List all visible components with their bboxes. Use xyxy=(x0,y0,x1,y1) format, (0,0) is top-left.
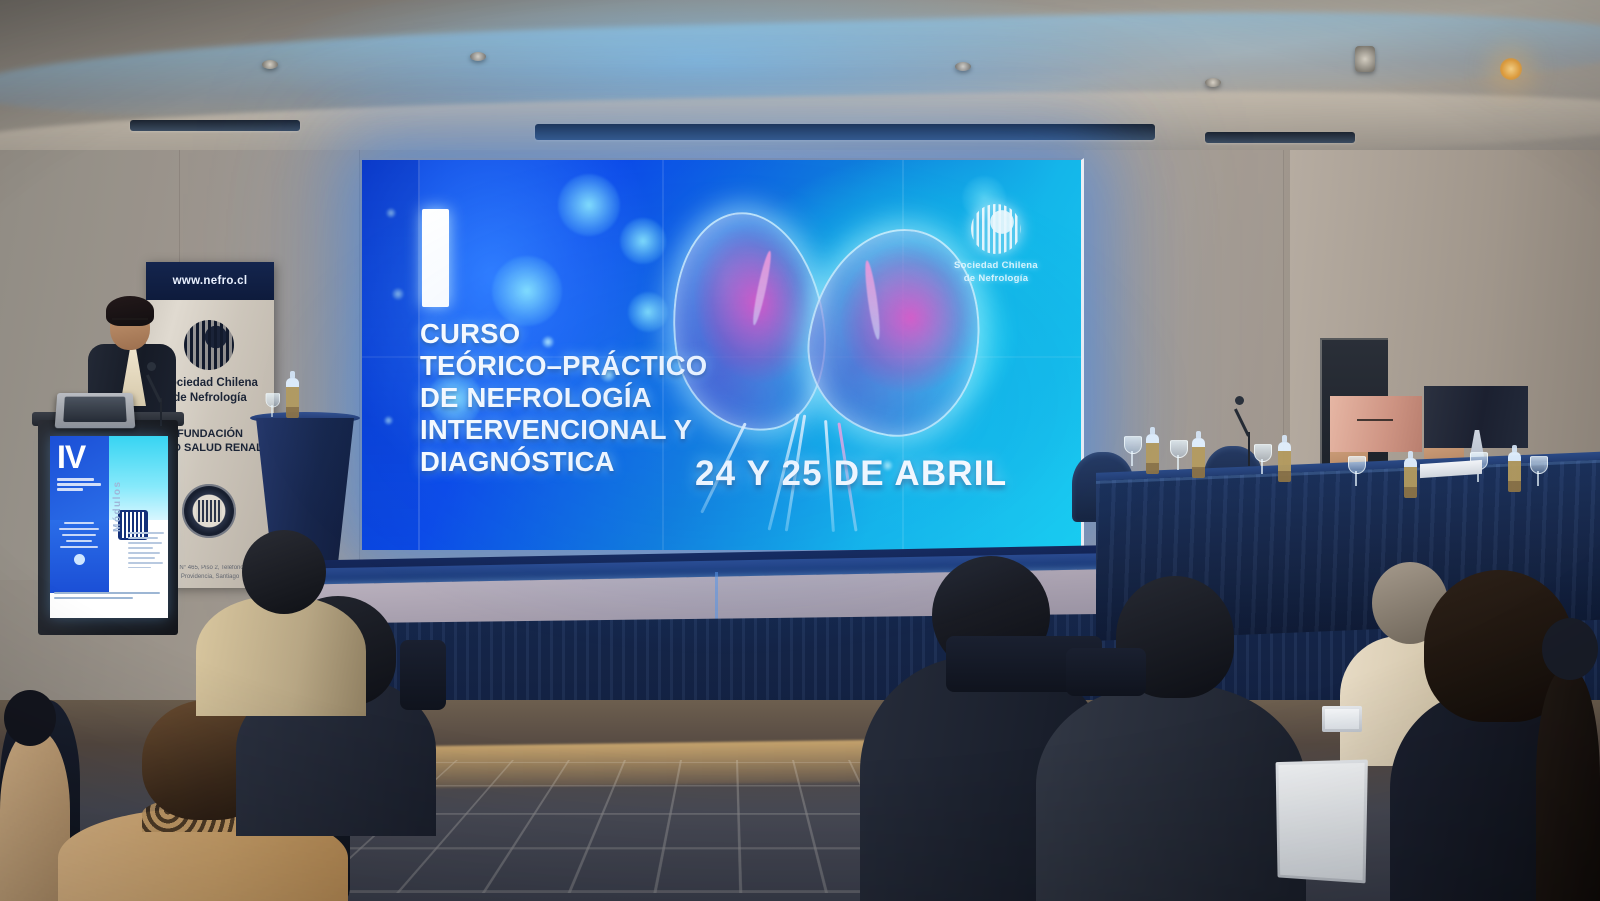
water-bottle-podium xyxy=(286,378,299,418)
banner-header: www.nefro.cl xyxy=(146,262,274,300)
audience-seat-3 xyxy=(400,640,446,710)
podium-microphone xyxy=(160,398,162,426)
slide-title-line-2: TEÓRICO–PRÁCTICO xyxy=(420,350,750,382)
panel-bottle-2 xyxy=(1192,438,1205,478)
ceiling-spotlight-3 xyxy=(955,62,971,71)
ceiling-vent-left xyxy=(130,120,300,131)
kidney-logo-icon xyxy=(971,204,1021,254)
poster-sponsor-footer xyxy=(54,592,164,614)
audience-seat-5 xyxy=(1066,648,1146,696)
slide-title-line-4: INTERVENCIONAL Y xyxy=(420,414,750,446)
speaker-laptop xyxy=(55,393,136,428)
poster-dot-icon xyxy=(74,554,85,565)
poster-modulos-label: Módulos xyxy=(112,480,123,532)
ceiling-spotlight-warm xyxy=(1500,58,1522,80)
audience-4-body xyxy=(196,596,366,716)
poster-middle-lines xyxy=(58,522,100,565)
panel-glass-3 xyxy=(1254,444,1270,474)
ceiling-vent-right xyxy=(1205,132,1355,143)
audience-notepad-page xyxy=(1325,709,1359,729)
ceiling-spotlight-2 xyxy=(470,52,486,61)
led-presentation-screen: CURSO TEÓRICO–PRÁCTICO DE NEFROLOGÍA INT… xyxy=(362,158,1084,550)
audience-notepad xyxy=(1322,706,1362,732)
audience-9-head xyxy=(1542,618,1598,680)
audience-6-body xyxy=(1036,684,1306,901)
slide-title-line-3: DE NEFROLOGÍA xyxy=(420,382,750,414)
audience-member-6 xyxy=(1036,576,1306,901)
panel-bottle-4 xyxy=(1404,458,1417,498)
podium-poster: IV Módulos xyxy=(50,436,168,618)
slide-logo-line-2: de Nefrología xyxy=(940,273,1052,286)
speaker-glasses xyxy=(112,318,148,326)
audience-9-body xyxy=(1536,668,1600,901)
led-panel-column-left xyxy=(362,160,420,550)
slide-logo: Sociedad Chilena de Nefrología xyxy=(940,204,1052,286)
ceiling-vent-center xyxy=(535,124,1155,140)
bokeh-1 xyxy=(558,174,620,236)
panel-glass-6 xyxy=(1530,456,1546,486)
slide-date: 24 Y 25 DE ABRIL xyxy=(695,454,1007,494)
conference-hall-scene: CURSO TEÓRICO–PRÁCTICO DE NEFROLOGÍA INT… xyxy=(0,0,1600,901)
slide-title-line-1: CURSO xyxy=(420,318,750,350)
slide-numeral-bar xyxy=(422,209,449,307)
audience-4-head xyxy=(242,530,326,614)
audience-member-9 xyxy=(1536,618,1600,901)
panel-bottle-5 xyxy=(1508,452,1521,492)
water-glass-podium xyxy=(266,393,279,417)
panel-glass-2 xyxy=(1170,440,1186,470)
audience-1-head xyxy=(4,690,56,746)
ceiling-spotlight-5 xyxy=(1355,46,1375,72)
bokeh-3 xyxy=(492,256,562,326)
panel-glass-4 xyxy=(1348,456,1364,486)
banner-kidney-logo-icon xyxy=(184,320,234,370)
poster-right-lines xyxy=(128,532,164,572)
speaker-laptop-screen xyxy=(63,397,126,422)
ceiling-spotlight-4 xyxy=(1205,78,1221,87)
poster-subtitle-lines xyxy=(57,478,101,493)
panelist-left-glasses xyxy=(1357,419,1393,426)
panel-bottle-3 xyxy=(1278,442,1291,482)
audience-laptop-1-screen xyxy=(1278,763,1364,880)
panel-microphone-1 xyxy=(1248,432,1250,466)
audience-member-4 xyxy=(196,530,366,710)
panel-glass-1 xyxy=(1124,436,1140,466)
ceiling xyxy=(0,0,1600,170)
slide-logo-line-1: Sociedad Chilena xyxy=(940,260,1052,273)
poster-numeral: IV xyxy=(57,441,85,473)
ceiling-spotlight-1 xyxy=(262,60,278,69)
panel-bottle-1 xyxy=(1146,434,1159,474)
bokeh-2 xyxy=(620,218,666,264)
audience-laptop-1 xyxy=(1276,760,1368,884)
banner-url: www.nefro.cl xyxy=(173,275,248,287)
